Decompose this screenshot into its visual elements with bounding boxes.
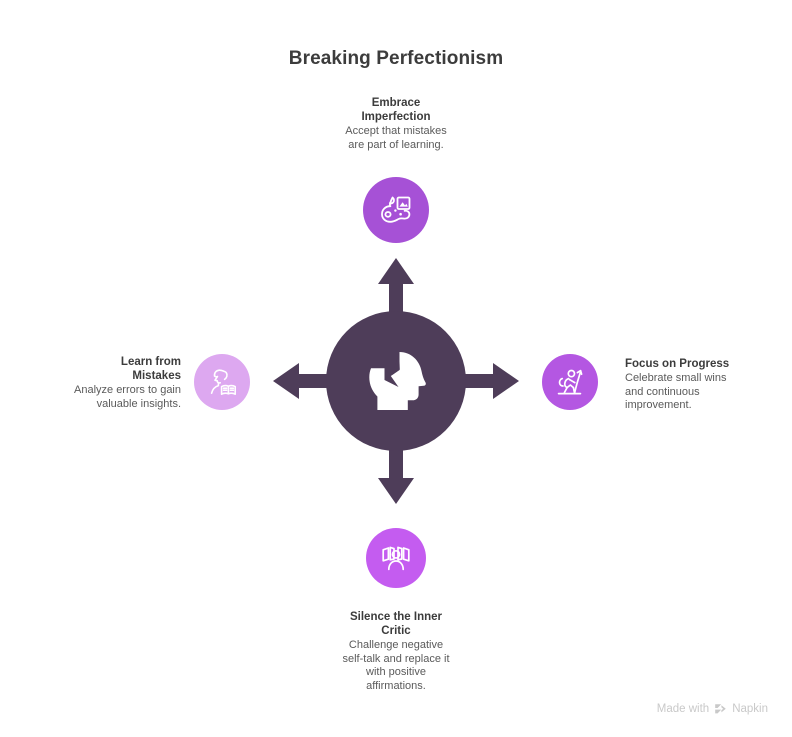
label-description: Challenge negative self-talk and replace…	[316, 639, 476, 693]
watermark-prefix: Made with	[657, 703, 709, 715]
label-title: Silence the Inner Critic	[316, 610, 476, 638]
node-silence-inner-critic[interactable]	[366, 528, 426, 588]
napkin-logo-icon	[714, 703, 727, 715]
node-embrace-imperfection[interactable]	[363, 177, 429, 243]
label-silence-inner-critic: Silence the Inner Critic Challenge negat…	[316, 610, 476, 693]
label-focus-on-progress: Focus on Progress Celebrate small wins a…	[625, 357, 775, 413]
paint-palette-picture-icon	[379, 193, 413, 227]
person-mirror-reflection-icon	[380, 542, 412, 574]
person-climbing-stairs-icon	[554, 366, 586, 398]
label-title: Focus on Progress	[625, 357, 775, 371]
watermark-brand: Napkin	[732, 703, 768, 715]
label-title: Learn from Mistakes	[36, 355, 181, 383]
label-learn-from-mistakes: Learn from Mistakes Analyze errors to ga…	[36, 355, 181, 411]
label-embrace-imperfection: Embrace Imperfection Accept that mistake…	[316, 96, 476, 152]
node-focus-on-progress[interactable]	[542, 354, 598, 410]
label-description: Analyze errors to gain valuable insights…	[36, 384, 181, 411]
label-description: Celebrate small wins and continuous impr…	[625, 372, 775, 413]
center-hub	[326, 311, 466, 451]
watermark: Made with Napkin	[657, 703, 768, 715]
node-learn-from-mistakes[interactable]	[194, 354, 250, 410]
label-description: Accept that mistakes are part of learnin…	[316, 125, 476, 152]
label-title: Embrace Imperfection	[316, 96, 476, 124]
person-reading-book-icon	[206, 366, 238, 398]
diagram-canvas: Embrace Imperfection Accept that mistake…	[0, 0, 792, 737]
